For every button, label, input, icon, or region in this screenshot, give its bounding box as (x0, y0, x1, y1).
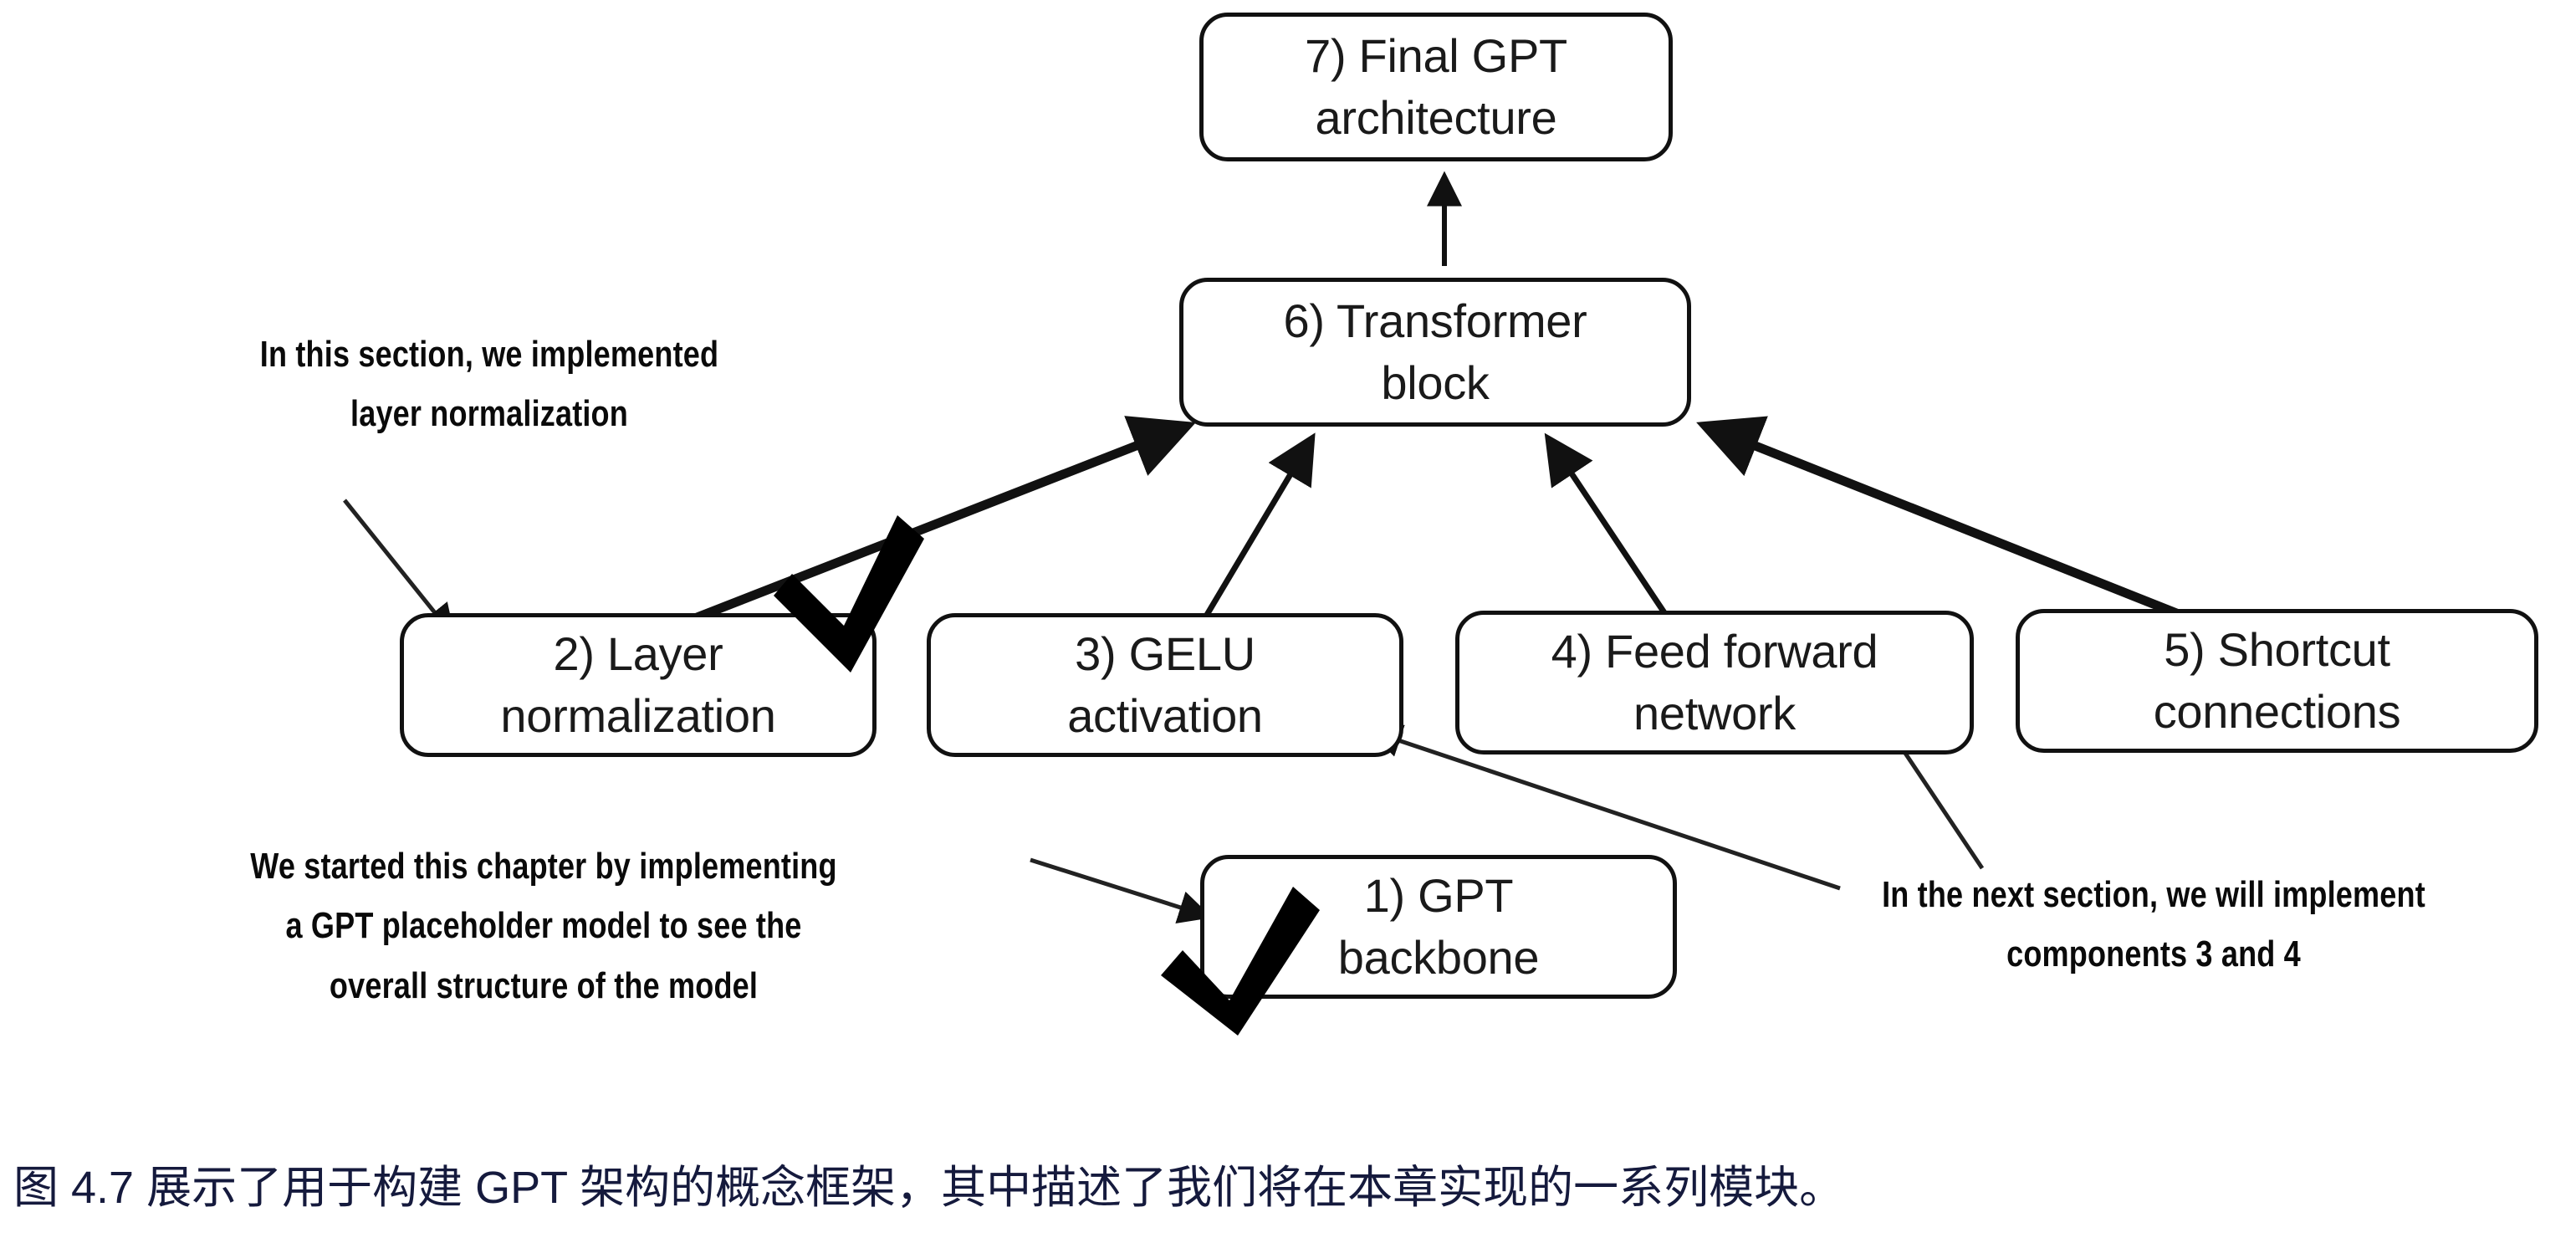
node-transformer-block[interactable]: 6) Transformer block (1179, 278, 1691, 427)
node-final-gpt-architecture[interactable]: 7) Final GPT architecture (1199, 13, 1673, 161)
leader-gpt-backbone-note (1030, 860, 1204, 915)
figure-canvas: 7) Final GPT architecture 6) Transformer… (0, 0, 2576, 1243)
node-shortcut-connections[interactable]: 5) Shortcut connections (2016, 609, 2538, 753)
annotation-next-section-note: In the next section, we will implement c… (1804, 865, 2503, 985)
node-gelu-activation[interactable]: 3) GELU activation (927, 613, 1403, 757)
node-gpt-backbone[interactable]: 1) GPT backbone (1200, 855, 1677, 999)
figure-caption: 图 4.7 展示了用于构建 GPT 架构的概念框架，其中描述了我们将在本章实现的… (13, 1161, 2556, 1215)
node-feed-forward-network[interactable]: 4) Feed forward network (1455, 611, 1974, 754)
annotation-layer-norm-note: In this section, we implemented layer no… (171, 325, 809, 444)
annotation-gpt-backbone-note: We started this chapter by implementing … (166, 836, 921, 1015)
leader-layernorm-note (345, 500, 450, 632)
node-layer-normalization[interactable]: 2) Layer normalization (400, 613, 877, 757)
